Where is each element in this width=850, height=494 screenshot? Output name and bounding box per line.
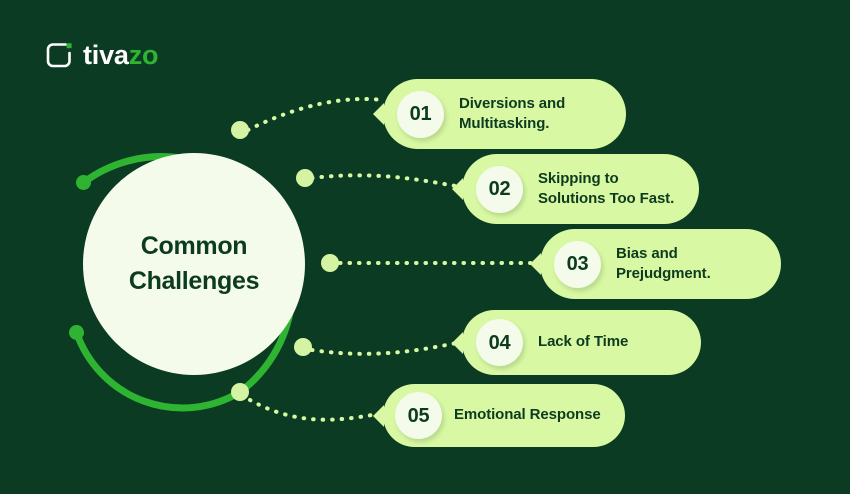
arc-node-5[interactable] [231,383,249,401]
pill-tail-5 [373,405,384,427]
infographic-canvas: tivazo Common Challenges 01 Div [0,0,850,494]
challenge-label-3: Bias and Prejudgment. [616,244,711,285]
challenge-number-3: 03 [567,254,589,274]
challenge-number-4: 04 [489,333,511,353]
challenge-label-5-line-1: Emotional Response [454,405,601,425]
leader-line-2 [312,175,462,187]
challenge-label-2: Skipping to Solutions Too Fast. [538,169,674,210]
challenge-label-3-line-2: Prejudgment. [616,264,711,284]
leader-line-5 [250,400,383,420]
leader-line-4 [312,342,462,354]
arc-node-1[interactable] [231,121,249,139]
challenge-label-2-line-2: Solutions Too Fast. [538,189,674,209]
center-circle: Common Challenges [83,153,305,375]
challenge-badge-5: 05 [395,392,442,439]
arc-endpoint-top-dot [76,175,91,190]
challenge-badge-1: 01 [397,91,444,138]
challenge-label-3-line-1: Bias and [616,244,711,264]
arc-node-2[interactable] [296,169,314,187]
challenge-label-4-line-1: Lack of Time [538,332,628,352]
challenge-badge-2: 02 [476,166,523,213]
center-title-line-2: Challenges [129,264,259,300]
challenge-label-4: Lack of Time [538,332,628,352]
challenge-item-4[interactable]: 04 Lack of Time [462,310,701,375]
challenge-number-5: 05 [408,406,430,426]
pill-tail-1 [373,103,384,125]
pill-tail-2 [452,178,463,200]
arc-endpoint-bottom-dot [69,325,84,340]
challenge-label-2-line-1: Skipping to [538,169,674,189]
challenge-item-2[interactable]: 02 Skipping to Solutions Too Fast. [462,154,699,224]
challenge-item-3[interactable]: 03 Bias and Prejudgment. [540,229,781,299]
challenge-item-5[interactable]: 05 Emotional Response [383,384,625,447]
challenge-label-1-line-1: Diversions and [459,94,565,114]
challenge-number-2: 02 [489,179,511,199]
challenge-badge-3: 03 [554,241,601,288]
arc-node-4[interactable] [294,338,312,356]
challenge-item-1[interactable]: 01 Diversions and Multitasking. [383,79,626,149]
center-title-line-1: Common [141,229,248,265]
challenge-label-5: Emotional Response [454,405,601,425]
challenge-number-1: 01 [410,104,432,124]
leader-line-1 [248,99,383,130]
challenge-label-1: Diversions and Multitasking. [459,94,565,135]
pill-tail-3 [530,253,541,275]
pill-tail-4 [452,332,463,354]
challenge-label-1-line-2: Multitasking. [459,114,565,134]
arc-node-3[interactable] [321,254,339,272]
challenge-badge-4: 04 [476,319,523,366]
